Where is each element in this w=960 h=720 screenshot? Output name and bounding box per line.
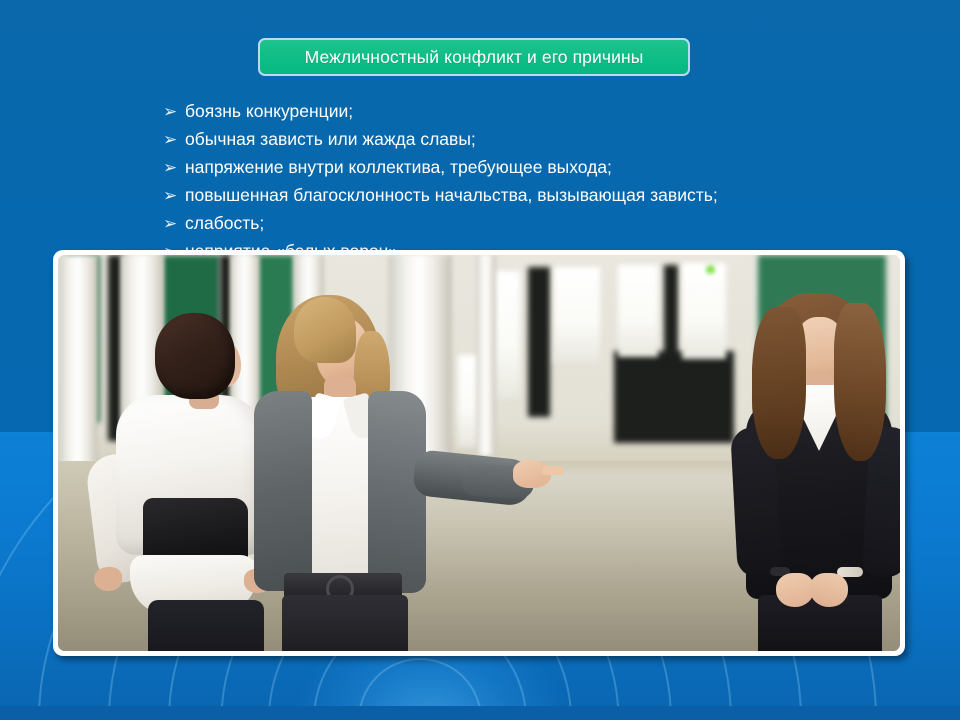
hair [155,313,235,399]
bullet-list: ➢ боязнь конкуренции; ➢ обычная зависть … [163,98,923,266]
trousers [148,600,264,651]
trousers [282,595,408,651]
left-hand [94,567,122,591]
hair-right [834,303,886,461]
pointing-finger [542,466,564,475]
arrow-bullet-icon: ➢ [163,154,185,181]
door-frame [528,267,550,417]
slide-title-banner: Межличностный конфликт и его причины [258,38,690,76]
list-item: ➢ повышенная благосклонность начальства,… [163,182,923,209]
arrow-bullet-icon: ➢ [163,98,185,125]
slide-photo [58,255,900,651]
blazer-left [254,391,312,591]
door-frame [664,265,678,361]
list-item-label: напряжение внутри коллектива, требующее … [185,154,612,181]
blazer-right [368,391,426,593]
list-item: ➢ слабость; [163,210,923,237]
arrow-bullet-icon: ➢ [163,182,185,209]
list-item: ➢ боязнь конкуренции; [163,98,923,125]
indicator-light [706,265,715,274]
slide-title: Межличностный конфликт и его причины [305,47,644,68]
window-pane [682,263,726,359]
list-item-label: слабость; [185,210,264,237]
hair-left [752,307,806,459]
footer-strip [0,706,960,720]
right-hand [810,573,848,607]
pillar [476,255,496,455]
pillar [58,255,98,485]
hair-front [294,297,356,363]
arrow-bullet-icon: ➢ [163,210,185,237]
list-item-label: повышенная благосклонность начальства, в… [185,182,718,209]
list-item-label: обычная зависть или жажда славы; [185,126,476,153]
window-pane [618,265,658,357]
door-frame [614,351,734,443]
arrow-bullet-icon: ➢ [163,126,185,153]
list-item: ➢ напряжение внутри коллектива, требующе… [163,154,923,181]
photo-frame [53,250,905,656]
list-item-label: боязнь конкуренции; [185,98,353,125]
presentation-slide: Межличностный конфликт и его причины ➢ б… [0,0,960,720]
window-pane [554,267,600,363]
left-hand [776,573,814,607]
list-item: ➢ обычная зависть или жажда славы; [163,126,923,153]
